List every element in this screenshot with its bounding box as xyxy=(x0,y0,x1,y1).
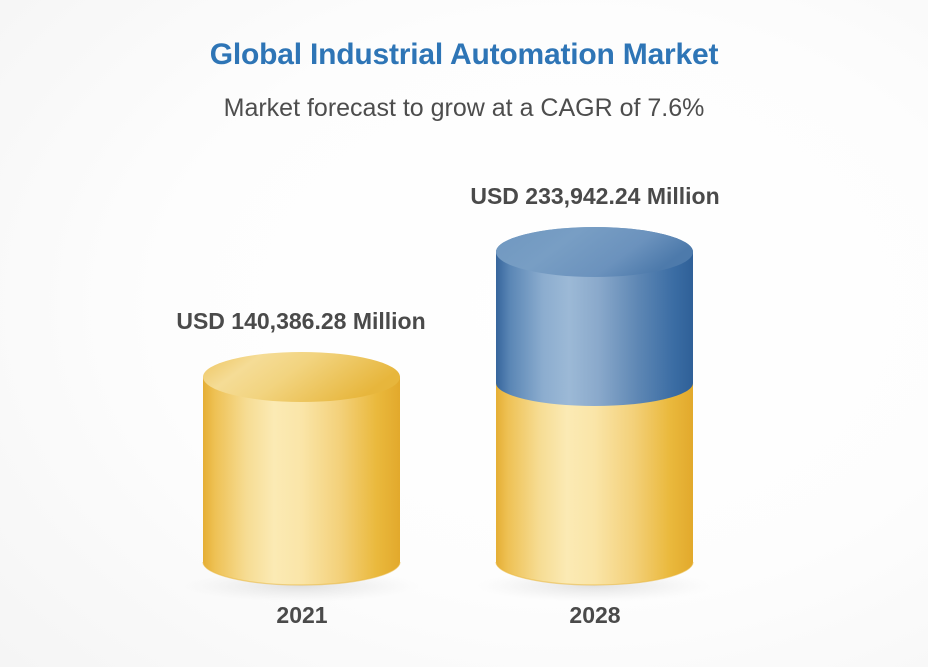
bar-2021[interactable] xyxy=(203,352,400,585)
bar-2028[interactable] xyxy=(496,227,693,592)
chart-canvas: Global Industrial Automation Market Mark… xyxy=(0,0,928,667)
bar-2021-top-cap xyxy=(203,352,400,402)
value-label-2021: USD 140,386.28 Million xyxy=(101,308,501,335)
bar-2028-top-cap xyxy=(496,227,693,277)
category-label-2021: 2021 xyxy=(182,602,422,629)
category-label-2028: 2028 xyxy=(475,602,715,629)
bar-2021-body xyxy=(203,377,400,585)
value-label-2028: USD 233,942.24 Million xyxy=(395,183,795,210)
